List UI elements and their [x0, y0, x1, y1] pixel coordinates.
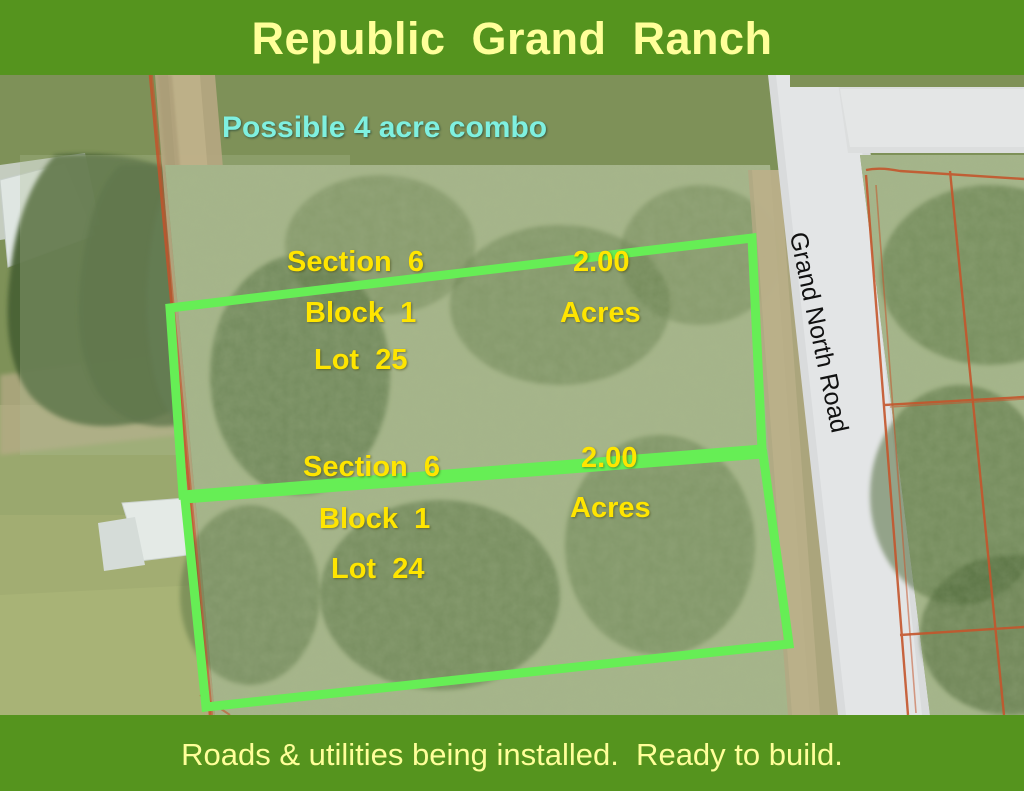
listing-flyer: Republic Grand Ranch	[0, 0, 1024, 791]
aerial-imagery	[0, 75, 1024, 715]
footer-text: Roads & utilities being installed. Ready…	[181, 739, 843, 770]
page-title: Republic Grand Ranch	[251, 16, 772, 61]
header-banner: Republic Grand Ranch	[0, 0, 1024, 75]
aerial-map-image	[0, 75, 1024, 715]
footer-banner: Roads & utilities being installed. Ready…	[0, 715, 1024, 791]
